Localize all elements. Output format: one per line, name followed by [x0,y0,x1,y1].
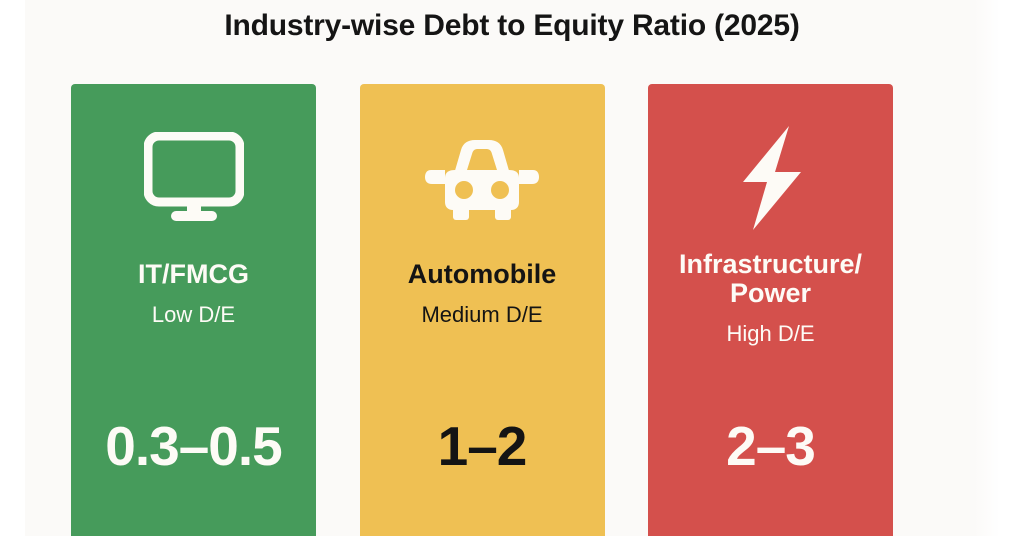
card-title-line-1: Infrastructure/ [679,250,862,279]
card-title-it-fmcg: IT/FMCG [132,260,255,289]
card-subtitle-it-fmcg: Low D/E [152,302,235,328]
industry-card-row: IT/FMCG Low D/E 0.3–0.5 [71,84,893,536]
card-subtitle-infrastructure-power: High D/E [726,321,814,347]
card-automobile[interactable]: Automobile Medium D/E 1–2 [360,84,605,536]
monitor-icon [144,122,244,234]
card-infrastructure-power[interactable]: Infrastructure/ Power High D/E 2–3 [648,84,893,536]
card-title-automobile: Automobile [402,260,563,289]
infographic-root: Industry-wise Debt to Equity Ratio (2025… [0,0,1024,536]
card-value-infrastructure-power: 2–3 [648,414,893,478]
card-value-automobile: 1–2 [360,414,605,478]
lightning-bolt-icon [733,122,809,234]
card-value-it-fmcg: 0.3–0.5 [71,414,316,478]
card-title-infrastructure-power: Infrastructure/ Power [673,250,868,308]
page-title: Industry-wise Debt to Equity Ratio (2025… [0,9,1024,43]
card-it-fmcg[interactable]: IT/FMCG Low D/E 0.3–0.5 [71,84,316,536]
car-icon [423,122,541,234]
card-subtitle-automobile: Medium D/E [421,302,542,328]
card-title-line-2: Power [679,279,862,308]
